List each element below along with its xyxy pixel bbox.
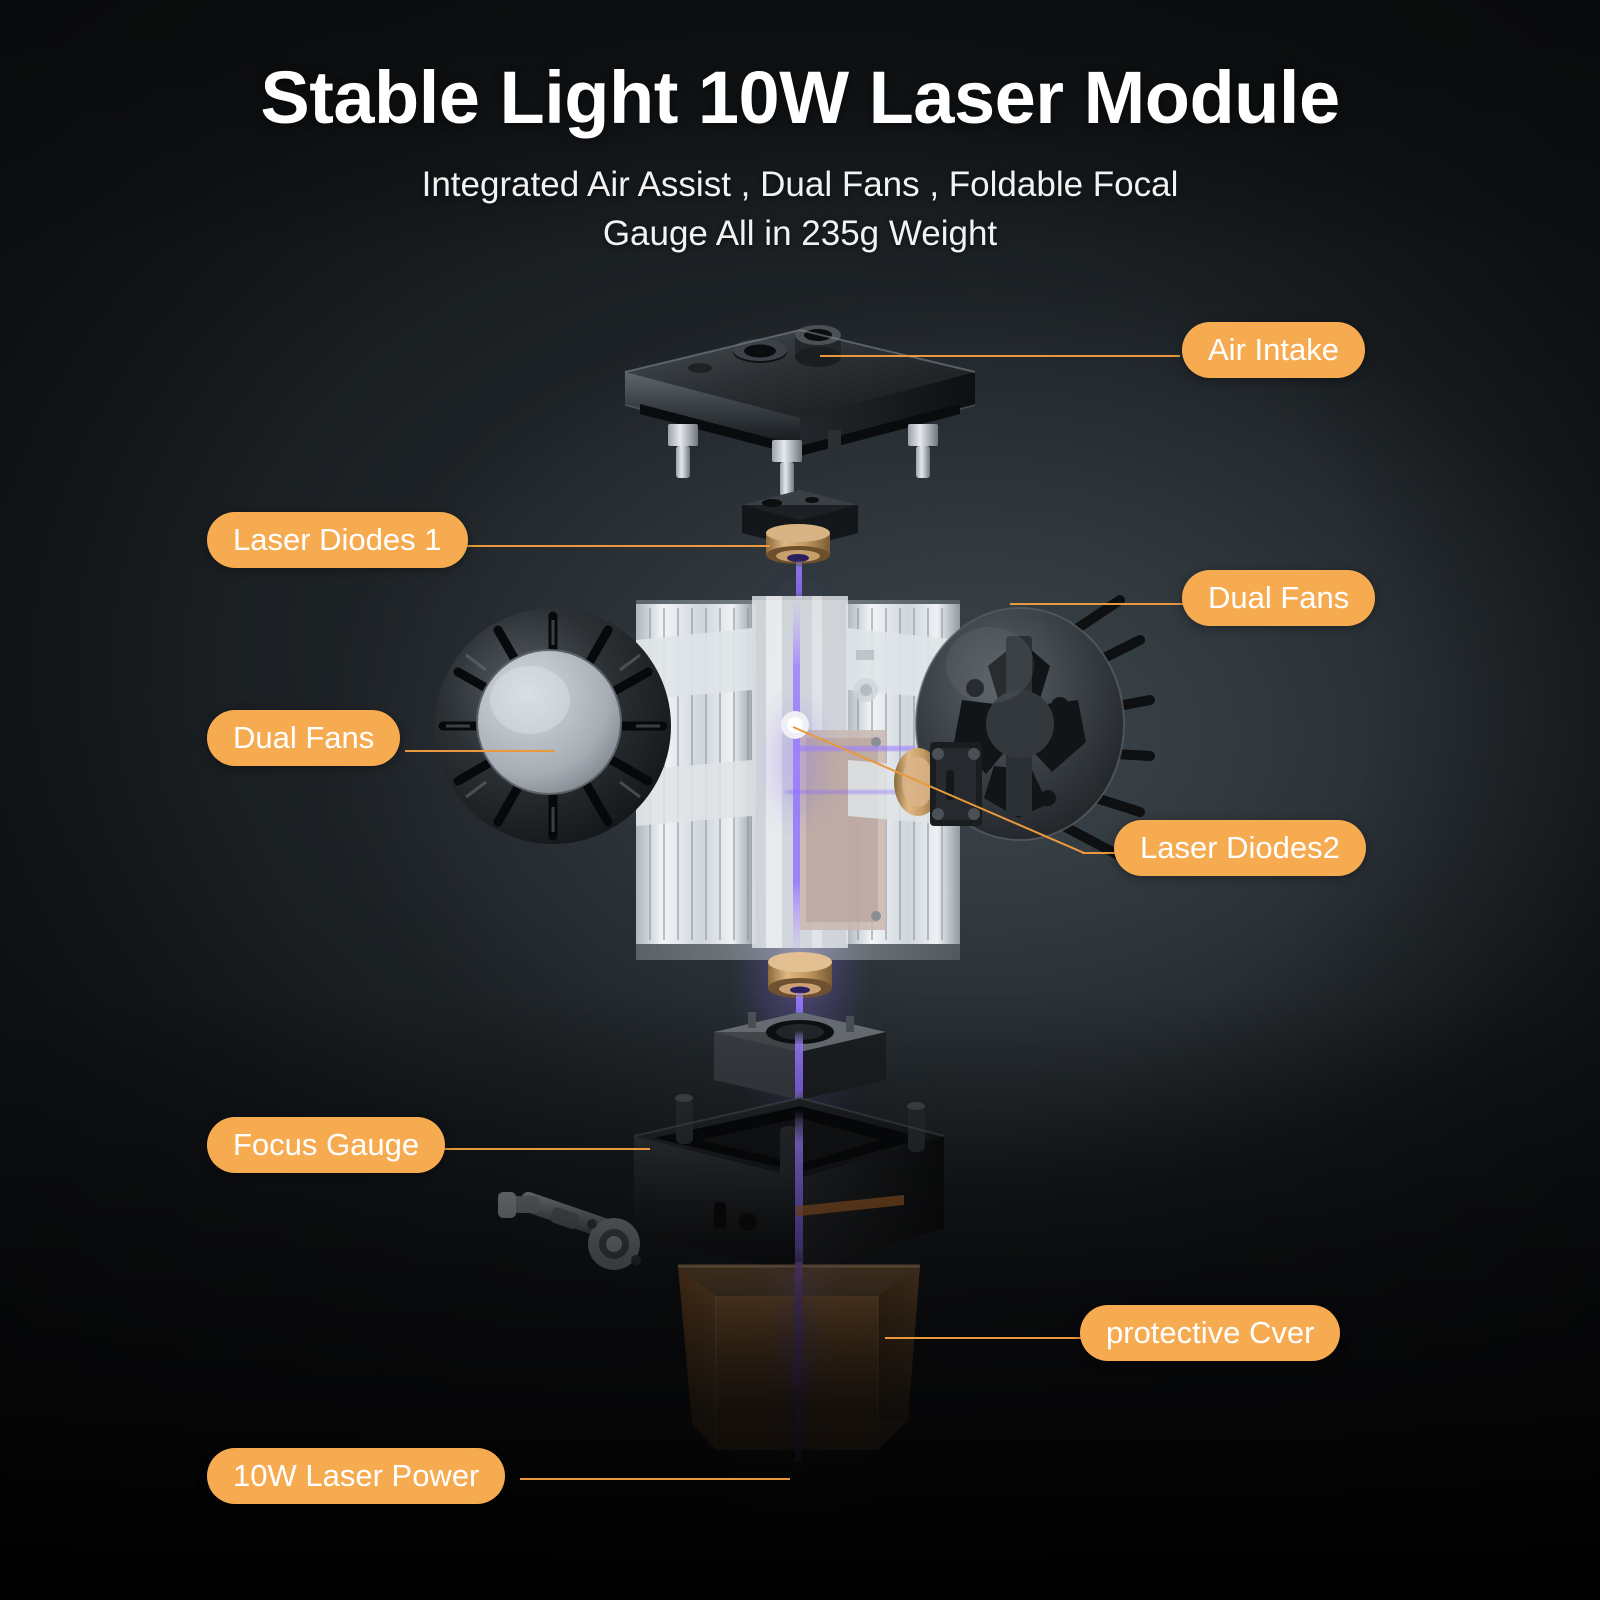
leader-line-focus-gauge	[425, 1148, 650, 1150]
callout-laser-diodes-1[interactable]: Laser Diodes 1	[207, 512, 468, 568]
leader-line-dual-fans-right	[1010, 603, 1185, 605]
subtitle-line-2: Gauge All in 235g Weight	[0, 209, 1600, 258]
callout-focus-gauge[interactable]: Focus Gauge	[207, 1117, 445, 1173]
leader-line-air-intake	[820, 355, 1180, 357]
callout-dual-fans-right[interactable]: Dual Fans	[1182, 570, 1375, 626]
callout-laser-diodes-2[interactable]: Laser Diodes2	[1114, 820, 1366, 876]
leader-line-dual-fans-left	[405, 750, 555, 752]
infographic-canvas: Air Intake Dual Fans Laser Diodes2 prote…	[0, 0, 1600, 1600]
page-subtitle: Integrated Air Assist , Dual Fans , Fold…	[0, 160, 1600, 258]
leader-line-protective-cover	[885, 1337, 1085, 1339]
callout-dual-fans-left[interactable]: Dual Fans	[207, 710, 400, 766]
leader-line-laser-power	[520, 1478, 790, 1480]
callout-protective-cover[interactable]: protective Cver	[1080, 1305, 1340, 1361]
leader-line-laser-diodes-1	[455, 545, 770, 547]
subtitle-line-1: Integrated Air Assist , Dual Fans , Fold…	[0, 160, 1600, 209]
callout-laser-power[interactable]: 10W Laser Power	[207, 1448, 505, 1504]
header: Stable Light 10W Laser Module Integrated…	[0, 54, 1600, 258]
callout-air-intake[interactable]: Air Intake	[1182, 322, 1365, 378]
page-title: Stable Light 10W Laser Module	[0, 54, 1600, 142]
